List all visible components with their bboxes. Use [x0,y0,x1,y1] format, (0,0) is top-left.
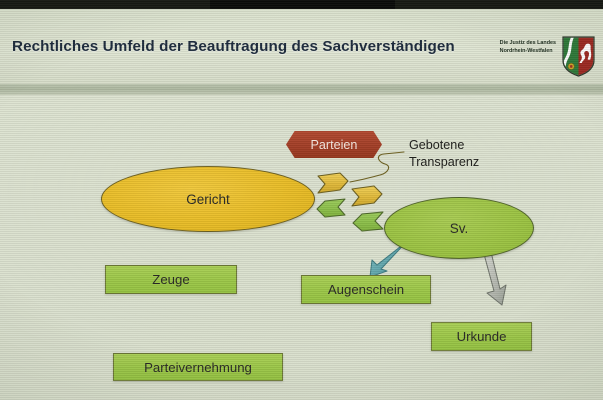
node-augenschein[interactable]: Augenschein [301,275,431,304]
node-urkunde-label: Urkunde [457,329,507,344]
node-zeuge-label: Zeuge [152,272,189,287]
node-augenschein-label: Augenschein [328,282,404,297]
node-gericht[interactable]: Gericht [101,166,315,232]
arrow-sv-to-urkunde [484,252,506,305]
node-parteien-label: Parteien [311,138,358,152]
node-gericht-label: Gericht [186,192,230,207]
node-sv[interactable]: Sv. [384,197,534,259]
slide-header: Rechtliches Umfeld der Beauftragung des … [0,9,603,87]
logo-text-line1: Die Justiz des Landes [500,39,556,47]
arrow-sv-to-gericht-lower [353,212,383,231]
nrw-coat-of-arms-icon [562,36,595,77]
arrow-sv-to-gericht-upper [317,199,345,217]
header-divider [0,84,603,95]
annotation-line2: Transparenz [409,154,479,171]
node-urkunde[interactable]: Urkunde [431,322,532,351]
arrow-gericht-to-sv-upper [318,173,348,193]
screen-bezel-top [0,0,603,9]
annotation-gebotene-transparenz: Gebotene Transparenz [409,137,479,170]
node-parteivernehmung[interactable]: Parteivernehmung [113,353,283,381]
annotation-line1: Gebotene [409,137,479,154]
node-sv-label: Sv. [450,221,469,236]
presentation-slide: Rechtliches Umfeld der Beauftragung des … [0,0,603,400]
node-parteivernehmung-label: Parteivernehmung [144,360,252,375]
ministry-logo: Die Justiz des Landes Nordrhein-Westfale… [500,36,595,77]
logo-text: Die Justiz des Landes Nordrhein-Westfale… [500,36,556,56]
logo-text-line2: Nordrhein-Westfalen [500,47,556,55]
node-parteien[interactable]: Parteien [286,131,382,158]
page-title: Rechtliches Umfeld der Beauftragung des … [12,38,455,55]
arrow-gericht-to-sv-lower [352,186,382,206]
node-zeuge[interactable]: Zeuge [105,265,237,294]
diagram-canvas: Parteien Gebotene Transparenz Gericht Sv… [0,95,603,400]
